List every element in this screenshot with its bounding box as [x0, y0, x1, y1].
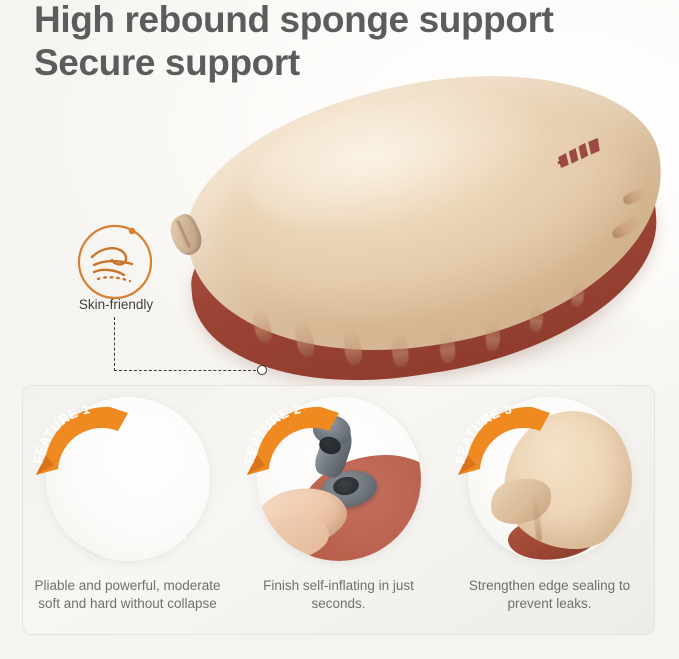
skin-friendly-label: Skin-friendly: [60, 297, 172, 312]
callout-target-marker: [257, 365, 267, 375]
feature-item-1: FEATURE 1 Pliable and powerful, moderate…: [22, 385, 233, 635]
hero-product-image: Skin-friendly: [0, 55, 679, 385]
feature-2-caption: Finish self-inflating in just seconds.: [239, 577, 438, 612]
feature-1-ribbon: FEATURE 1: [32, 405, 136, 479]
feature-3-ribbon: FEATURE 3: [454, 405, 558, 479]
callout-leader-horizontal: [114, 370, 261, 371]
hand-on-fabric-icon: [74, 219, 156, 301]
heading-line-2: Secure support: [34, 41, 644, 84]
feature-item-2: FEATURE 2 Finish self-inflating in just …: [233, 385, 444, 635]
infographic-page: High rebound sponge support Secure suppo…: [0, 0, 679, 659]
pillow-illustration: [168, 63, 678, 393]
callout-leader-vertical: [114, 317, 115, 371]
feature-2-ribbon: FEATURE 2: [243, 405, 347, 479]
skin-friendly-badge: [74, 219, 156, 301]
feature-1-caption: Pliable and powerful, moderate soft and …: [28, 577, 227, 612]
feature-3-caption: Strengthen edge sealing to prevent leaks…: [450, 577, 649, 612]
feature-list: FEATURE 1 Pliable and powerful, moderate…: [22, 385, 655, 635]
heading-line-1: High rebound sponge support: [34, 0, 644, 41]
feature-item-3: FEATURE 3 Strengthen edge sealing to pre…: [444, 385, 655, 635]
page-title: High rebound sponge support Secure suppo…: [34, 0, 644, 84]
